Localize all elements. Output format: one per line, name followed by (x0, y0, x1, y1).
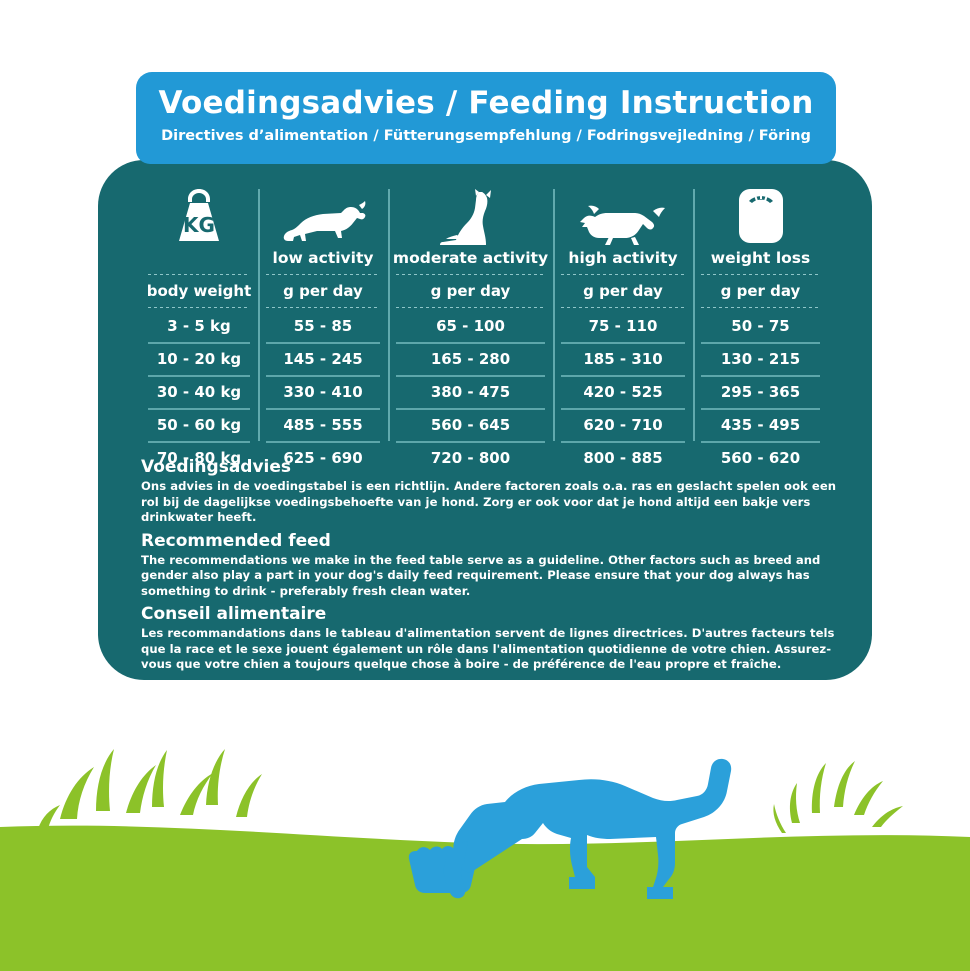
divider-solid (701, 375, 820, 377)
table-cell: 145 - 245 (258, 344, 388, 375)
kg-weight-icon: KG (140, 185, 258, 247)
divider-dashed (148, 307, 250, 308)
table-cell: 165 - 280 (388, 344, 553, 375)
column-unit: g per day (693, 278, 828, 304)
table-column-high-activity: high activity g per day 75 - 110 185 - 3… (553, 185, 693, 474)
divider-solid (148, 375, 250, 377)
section-title: Conseil alimentaire (141, 603, 846, 626)
feeding-instruction-infographic: Voedingsadvies / Feeding Instruction Dir… (0, 0, 970, 971)
table-cell: 130 - 215 (693, 344, 828, 375)
divider-dashed (396, 274, 545, 275)
table-cell: 620 - 710 (553, 410, 693, 441)
divider-dashed (396, 307, 545, 308)
table-cell: 560 - 645 (388, 410, 553, 441)
divider-solid (396, 375, 545, 377)
bathroom-scale-icon (693, 185, 828, 247)
divider-solid (396, 408, 545, 410)
grass-tuft-icon (38, 749, 262, 829)
table-cell: 55 - 85 (258, 311, 388, 342)
table-column-weight-loss: weight loss g per day 50 - 75 130 - 215 … (693, 185, 828, 474)
dog-jumping-icon (553, 185, 693, 247)
table-cell: 30 - 40 kg (140, 377, 258, 408)
divider-solid (701, 408, 820, 410)
divider-solid (561, 375, 685, 377)
table-cell: 3 - 5 kg (140, 311, 258, 342)
column-unit: g per day (258, 278, 388, 304)
advice-section-en: Recommended feed The recommendations we … (141, 530, 846, 600)
page-title: Voedingsadvies / Feeding Instruction (136, 83, 836, 123)
divider-solid (561, 408, 685, 410)
feeding-table: KG body weight 3 - 5 kg 10 - 20 kg 30 - … (140, 185, 840, 474)
advice-sections: Voedingsadvies Ons advies in de voedings… (141, 452, 846, 673)
divider-solid (561, 441, 685, 443)
divider-dashed (561, 307, 685, 308)
column-unit: g per day (553, 278, 693, 304)
page-subtitle: Directives d’alimentation / Fütterungsem… (136, 126, 836, 146)
header-banner: Voedingsadvies / Feeding Instruction Dir… (136, 72, 836, 164)
advice-section-fr: Conseil alimentaire Les recommandations … (141, 603, 846, 673)
table-cell: 380 - 475 (388, 377, 553, 408)
divider-solid (266, 375, 380, 377)
divider-solid (148, 342, 250, 344)
svg-text:KG: KG (183, 213, 215, 237)
table-cell: 10 - 20 kg (140, 344, 258, 375)
table-cell: 295 - 365 (693, 377, 828, 408)
table-cell: 185 - 310 (553, 344, 693, 375)
section-title: Recommended feed (141, 530, 846, 553)
table-cell: 50 - 60 kg (140, 410, 258, 441)
divider-dashed (701, 307, 820, 308)
divider-dashed (701, 274, 820, 275)
section-body: The recommendations we make in the feed … (141, 553, 846, 600)
divider-solid (396, 342, 545, 344)
grass-tuft-icon (773, 761, 903, 833)
divider-solid (701, 342, 820, 344)
table-column-low-activity: low activity g per day 55 - 85 145 - 245… (258, 185, 388, 474)
column-title: weight loss (693, 247, 828, 271)
column-title: high activity (553, 247, 693, 271)
divider-solid (396, 441, 545, 443)
table-column-body-weight: KG body weight 3 - 5 kg 10 - 20 kg 30 - … (140, 185, 258, 474)
column-unit: body weight (140, 278, 258, 304)
divider-dashed (561, 274, 685, 275)
dog-lying-icon (258, 185, 388, 247)
divider-dashed (266, 307, 380, 308)
column-title: low activity (258, 247, 388, 271)
dog-sitting-icon (388, 185, 553, 247)
table-column-moderate-activity: moderate activity g per day 65 - 100 165… (388, 185, 553, 474)
table-cell: 435 - 495 (693, 410, 828, 441)
table-cell: 330 - 410 (258, 377, 388, 408)
table-cell: 420 - 525 (553, 377, 693, 408)
table-cell: 485 - 555 (258, 410, 388, 441)
table-cell: 50 - 75 (693, 311, 828, 342)
table-cell: 65 - 100 (388, 311, 553, 342)
divider-solid (148, 441, 250, 443)
divider-solid (701, 441, 820, 443)
divider-solid (266, 342, 380, 344)
advice-section-nl: Voedingsadvies Ons advies in de voedings… (141, 456, 846, 526)
column-unit: g per day (388, 278, 553, 304)
section-body: Les recommandations dans le tableau d'al… (141, 626, 846, 673)
divider-solid (266, 408, 380, 410)
bottom-illustration (0, 701, 970, 971)
column-title: moderate activity (388, 247, 553, 271)
divider-solid (561, 342, 685, 344)
section-title: Voedingsadvies (141, 456, 846, 479)
table-cell: 75 - 110 (553, 311, 693, 342)
divider-dashed (148, 274, 250, 275)
divider-solid (148, 408, 250, 410)
divider-solid (266, 441, 380, 443)
divider-dashed (266, 274, 380, 275)
section-body: Ons advies in de voedingstabel is een ri… (141, 479, 846, 526)
